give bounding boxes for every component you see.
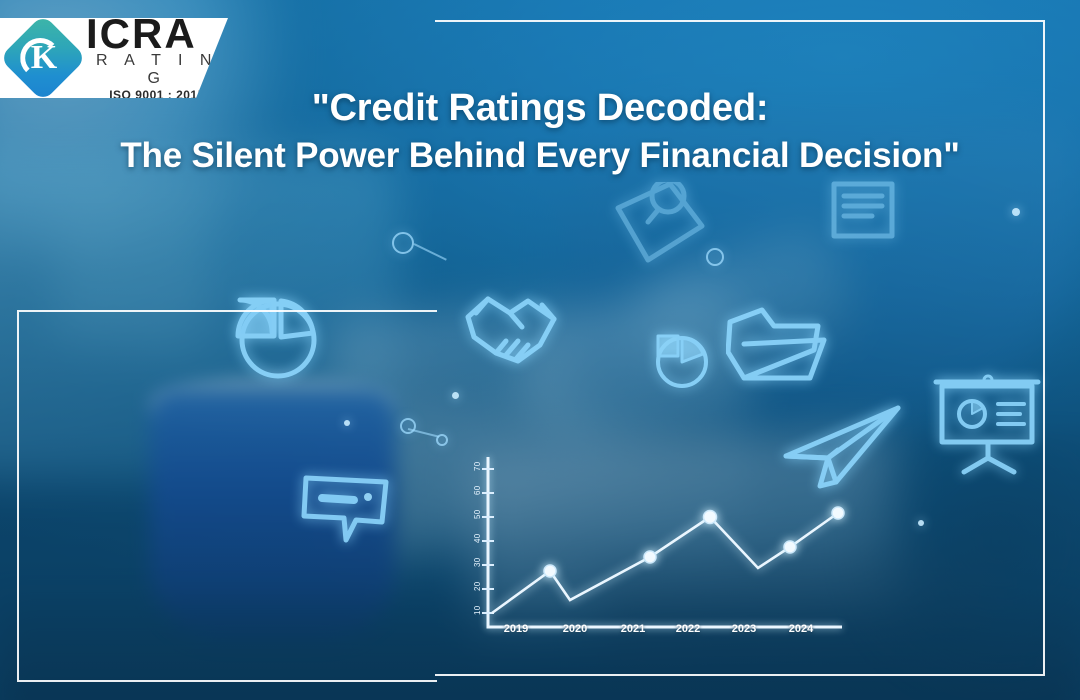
x-tick-label: 2023 [732,623,756,635]
icra-mark-letter: K [12,27,74,89]
page-title: "Credit Ratings Decoded: The Silent Powe… [0,84,1080,178]
x-tick-label: 2021 [621,623,645,635]
chart-point [644,551,656,563]
chart-point [704,511,717,524]
x-tick-label: 2020 [563,623,587,635]
brand-name: ICRA [86,14,228,54]
y-tick-label: 20 [473,581,482,591]
x-tick-label: 2024 [789,623,813,635]
icra-diamond-icon: K [0,14,87,102]
y-tick-label: 30 [473,557,482,567]
headline-line-2: The Silent Power Behind Every Financial … [40,133,1040,179]
brand-logo[interactable]: K ICRA TM R A T I N G ISO 9001 : 2015 [0,18,228,98]
frame-left [17,310,437,682]
y-tick-label: 50 [473,509,482,519]
decor-ring-a [392,232,414,254]
chart-series-line [492,513,838,613]
growth-line-chart: 10 20 30 40 50 60 70 2019 2020 2021 [470,455,860,655]
y-tick-label: 40 [473,533,482,543]
chart-point [544,565,556,577]
chart-x-labels: 2019 2020 2021 2022 2023 2024 [470,623,860,649]
x-tick-label: 2022 [676,623,700,635]
chart-point [832,507,844,519]
y-tick-label: 60 [473,485,482,495]
chart-y-labels: 10 20 30 40 50 60 70 [473,461,482,615]
chart-point [784,541,796,553]
marketing-banner: K ICRA TM R A T I N G ISO 9001 : 2015 "C… [0,0,1080,700]
y-tick-label: 70 [473,461,482,471]
y-tick-label: 10 [473,605,482,615]
x-tick-label: 2019 [504,623,528,635]
